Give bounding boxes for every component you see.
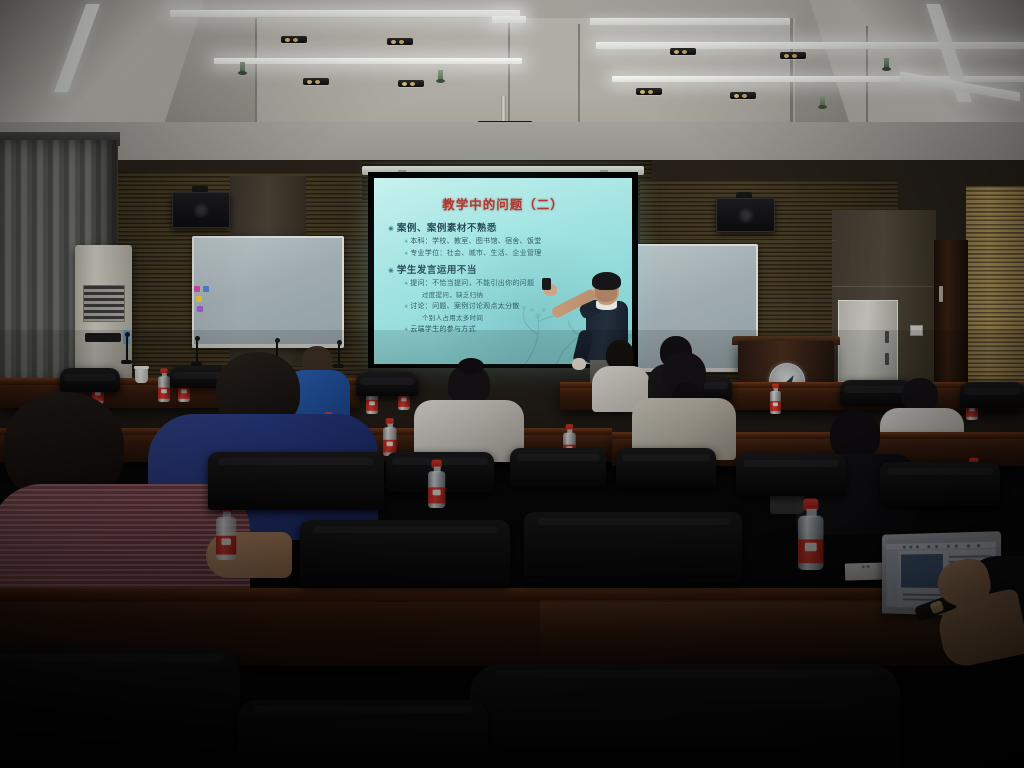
whiteboard-magnet[interactable]: [203, 286, 209, 292]
desk-nametag: 桌 牌: [845, 562, 887, 580]
ac-vent-grille: [83, 285, 125, 322]
water-bottle-front-right[interactable]: [798, 499, 824, 570]
ceiling: [0, 0, 1024, 132]
chair-foreground-center[interactable]: [238, 700, 488, 768]
chair[interactable]: [880, 462, 1000, 506]
wall-speaker-right: [716, 198, 775, 232]
ceiling-spot-fixture: [730, 92, 756, 99]
presenter-face-shadow: [595, 288, 617, 302]
hair-bun: [458, 358, 484, 374]
nametag-text: 桌 牌: [845, 562, 887, 570]
whiteboard-magnet[interactable]: [196, 296, 202, 302]
ceiling-strip-light: [590, 18, 790, 25]
lecture-hall-photo: 教学中的问题（二） 案例、案例素材不熟悉 本科：学校、教室、图书馆、宿舍、饭堂 …: [0, 0, 1024, 768]
head: [902, 378, 938, 412]
ceiling-seam: [508, 20, 510, 132]
ceiling-spot-fixture: [780, 52, 806, 59]
water-bottle[interactable]: [770, 384, 781, 414]
ceiling-strip-light: [170, 10, 520, 17]
chair-foreground-left[interactable]: [0, 648, 240, 768]
ceiling-spot-fixture: [303, 78, 329, 85]
ceiling-seam: [255, 18, 257, 132]
sprinkler-head: [820, 96, 825, 108]
whiteboard-magnet[interactable]: [197, 306, 203, 312]
slat-wall-far-right: [966, 186, 1024, 396]
ceiling-strip-light: [214, 58, 522, 64]
chair[interactable]: [208, 452, 384, 510]
laptop-sidebar: [887, 551, 899, 607]
presenter-remote: [542, 278, 551, 290]
wall-cabinet[interactable]: [838, 300, 898, 382]
chair[interactable]: [616, 448, 716, 488]
ceiling-strip-light: [492, 16, 526, 23]
chair[interactable]: [510, 448, 606, 486]
ac-control-panel[interactable]: [85, 333, 121, 342]
water-bottle-front-mid[interactable]: [428, 460, 445, 508]
chair[interactable]: [300, 520, 510, 586]
cabinet-handle[interactable]: [885, 331, 889, 343]
slide-bullet-l1: 案例、案例素材不熟悉: [388, 220, 624, 234]
whiteboard-magnet[interactable]: [194, 286, 200, 292]
head: [830, 410, 880, 460]
chair-foreground-right[interactable]: [470, 664, 900, 768]
wall-panel-seam: [640, 240, 836, 241]
paper-cup[interactable]: [135, 366, 148, 383]
ceiling-spot-fixture: [281, 36, 307, 43]
sprinkler-head: [240, 62, 245, 74]
wall-outlet: [910, 325, 923, 336]
door-handle[interactable]: [939, 286, 943, 302]
desk-microphone[interactable]: [126, 336, 128, 362]
ceiling-spot-fixture: [636, 88, 662, 95]
attendee-ponytail: [632, 352, 736, 456]
presenter-hair: [592, 272, 621, 290]
whiteboard-left[interactable]: [192, 236, 344, 348]
sprinkler-head: [438, 70, 443, 82]
ceiling-spot-fixture: [670, 48, 696, 55]
cabinet-handle[interactable]: [885, 353, 889, 365]
slide-title: 教学中的问题（二）: [374, 194, 632, 213]
presenter-hand-lower: [572, 358, 586, 370]
sprinkler-head: [884, 58, 889, 70]
ceiling-spot-fixture: [387, 38, 413, 45]
wall-speaker-left: [172, 192, 230, 228]
chair[interactable]: [524, 512, 742, 582]
chair[interactable]: [736, 454, 846, 496]
attendee-white-top: [414, 364, 524, 456]
chair[interactable]: [960, 382, 1024, 408]
water-bottle-front-left[interactable]: [216, 503, 236, 560]
ceiling-seam: [578, 24, 580, 132]
slide-bullet-l2: 专业学位：社会、城市、生活、企业管理: [404, 248, 624, 258]
slide-bullet-l2: 本科：学校、教室、图书馆、宿舍、饭堂: [404, 236, 624, 246]
ceiling-strip-light: [596, 42, 1024, 49]
ceiling-panel-center: [255, 18, 795, 132]
ceiling-spot-fixture: [398, 80, 424, 87]
water-bottle[interactable]: [383, 418, 397, 456]
microphone-base: [121, 360, 132, 364]
wall-panel-seam: [832, 286, 936, 287]
chair[interactable]: [60, 368, 120, 392]
ceiling-seam: [790, 18, 793, 132]
